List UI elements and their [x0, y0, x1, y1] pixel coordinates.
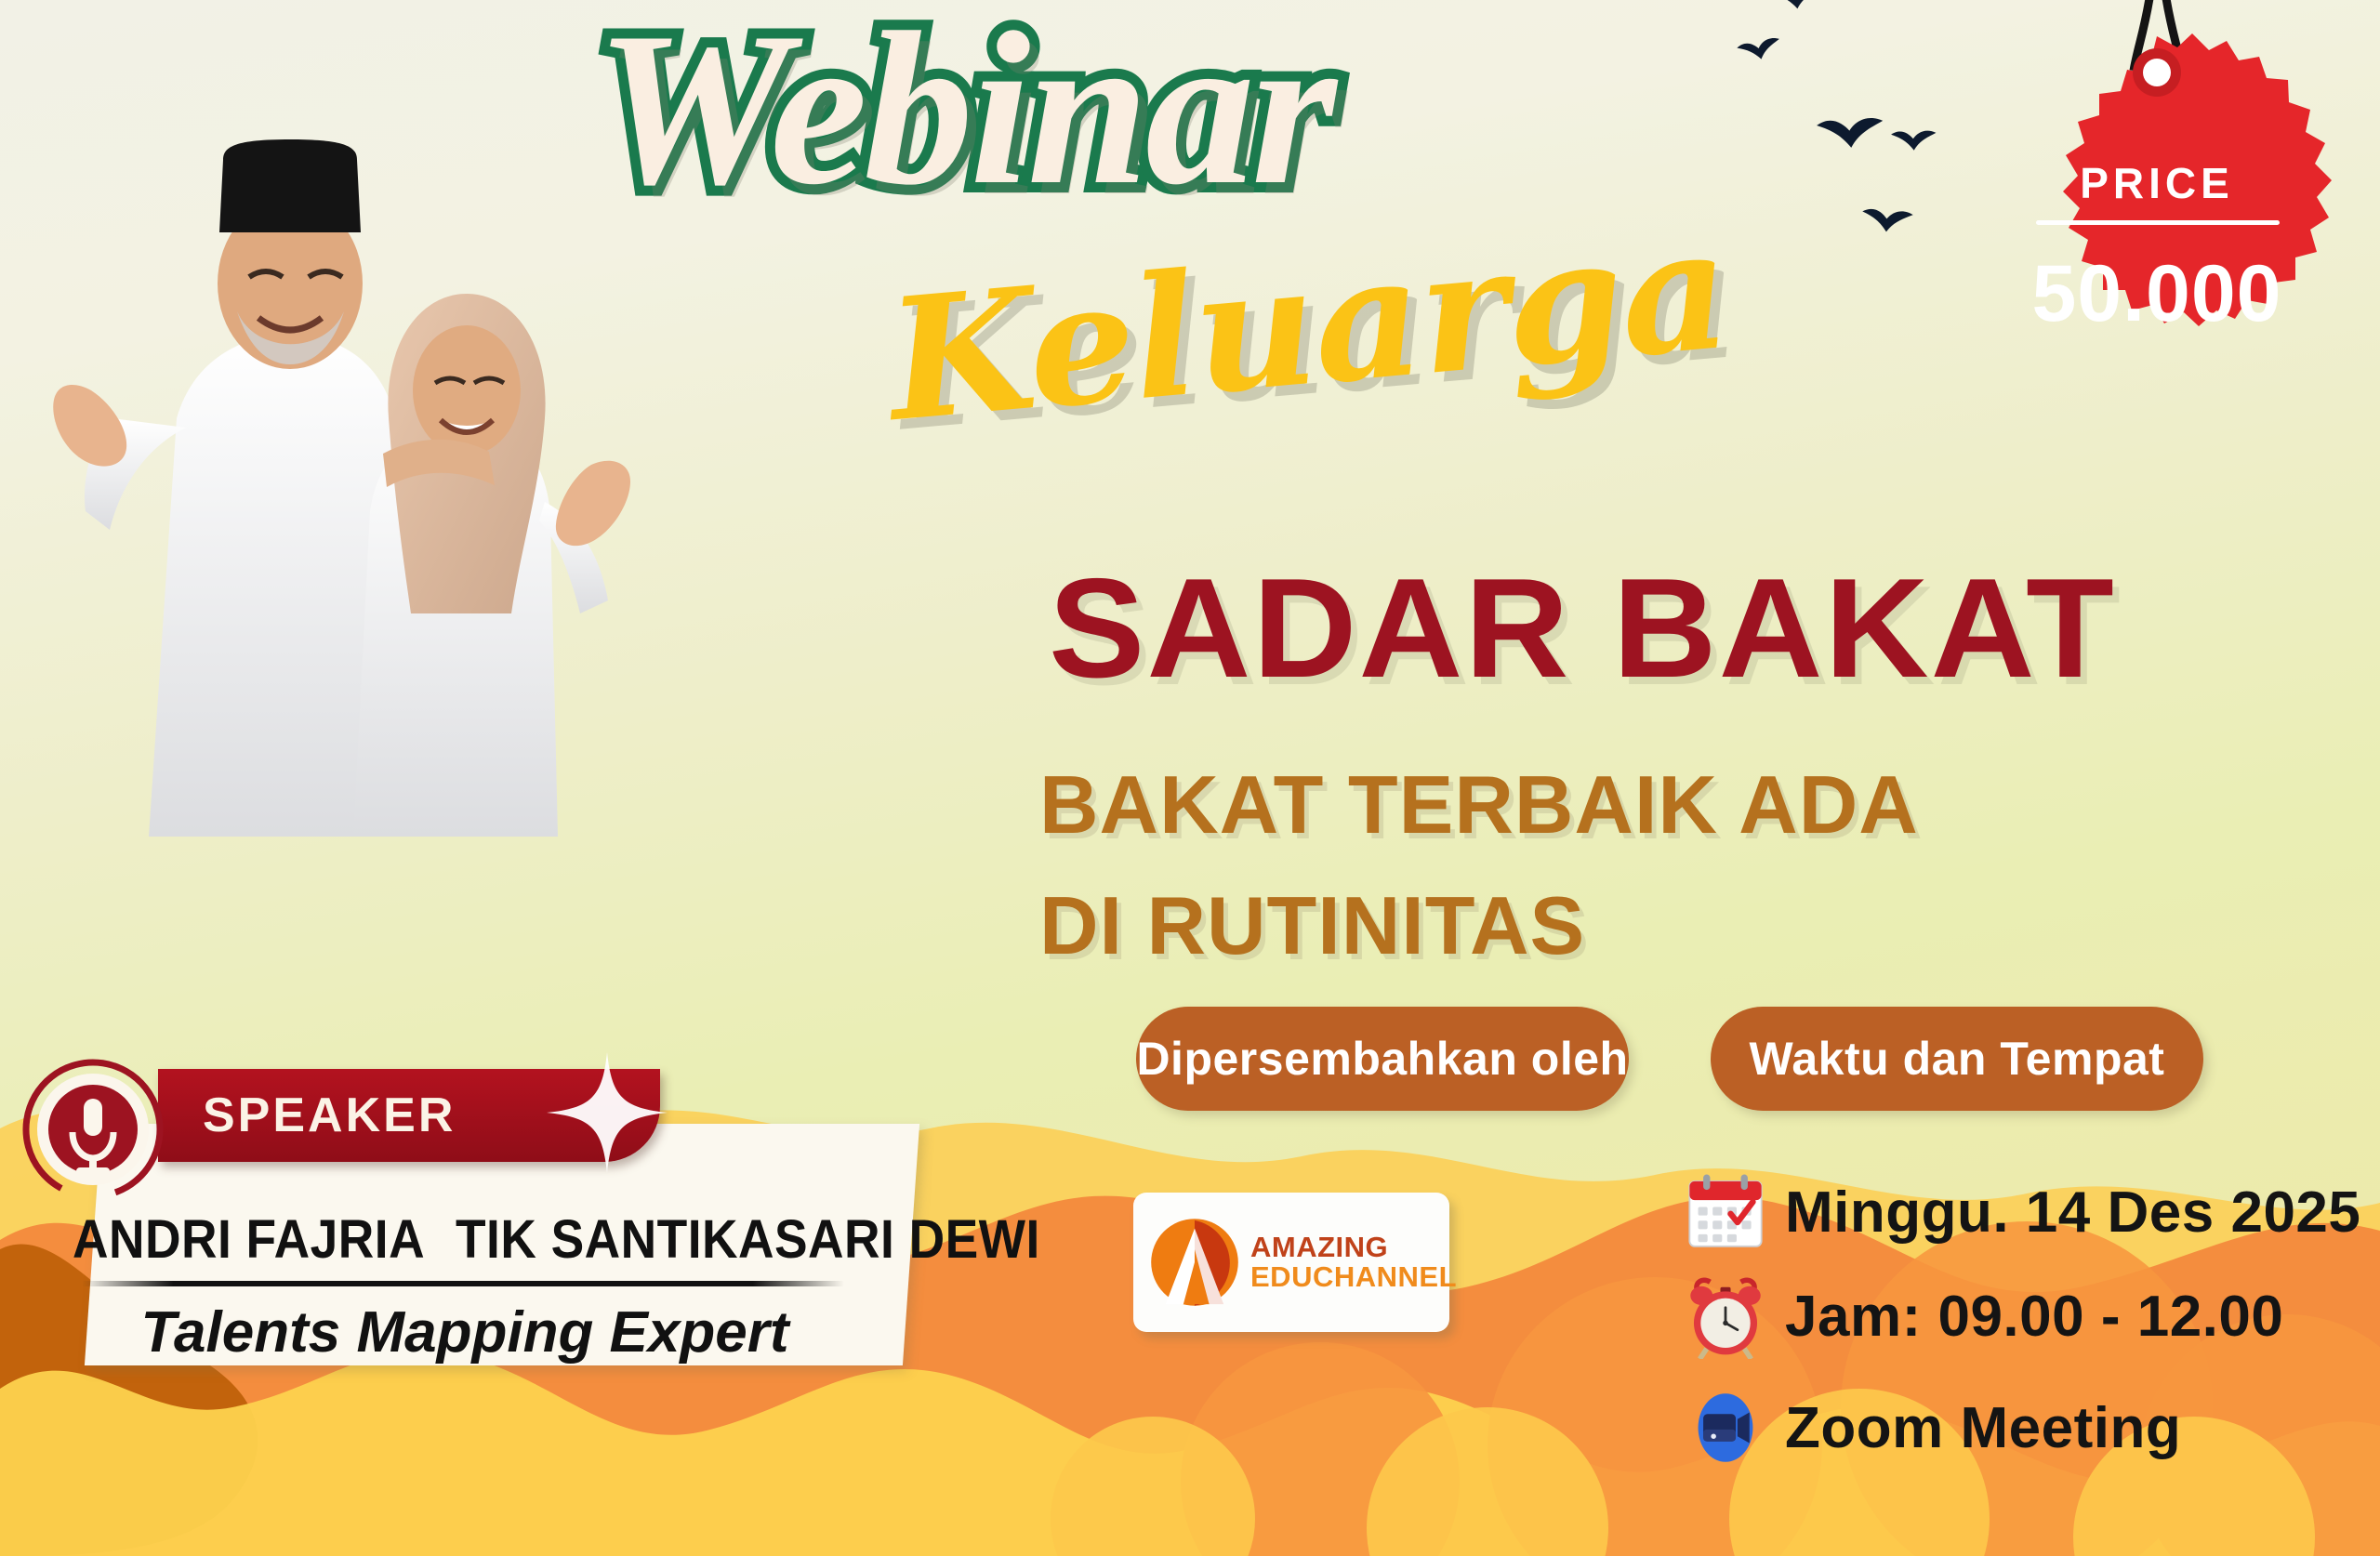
logo-line-1: AMAZING	[1250, 1233, 1457, 1262]
logo-line-2: EDUCHANNEL	[1250, 1262, 1457, 1292]
detail-platform-text: Zoom Meeting	[1785, 1395, 2181, 1461]
detail-time-text: Jam: 09.00 - 12.00	[1785, 1284, 2283, 1350]
price-label: PRICE	[1938, 158, 2375, 208]
organizer-logo-card: AMAZING EDUCHANNEL	[1133, 1193, 1449, 1332]
speaker-divider	[82, 1281, 844, 1286]
headline-webinar: Webinar	[595, 0, 1692, 242]
speaker-name-1: ANDRI FAJRIA	[73, 1208, 425, 1271]
speaker-role: Talents Mapping Expert	[0, 1299, 930, 1365]
pill-time-and-place: Waktu dan Tempat	[1711, 1007, 2203, 1111]
price-value: 50.000	[1938, 248, 2375, 340]
headline-keluarga: Keluarga	[888, 242, 1818, 446]
speaker-name-2: TIK SANTIKASARI DEWI	[456, 1208, 1040, 1271]
detail-row-date: Minggu. 14 Des 2025	[1683, 1169, 2360, 1255]
detail-date-text: Minggu. 14 Des 2025	[1785, 1180, 2360, 1246]
detail-row-platform: Zoom Meeting	[1683, 1385, 2181, 1470]
price-tag: PRICE 50.000	[1938, 0, 2375, 513]
webinar-poster: PRICE 50.000	[0, 0, 2380, 1556]
speaker-names: ANDRI FAJRIA TIK SANTIKASARI DEWI	[73, 1208, 872, 1271]
microphone-badge-icon	[19, 1050, 167, 1208]
alarm-clock-icon	[1683, 1273, 1768, 1359]
zoom-video-icon	[1683, 1385, 1768, 1470]
speaker-banner: SPEAKER	[158, 1069, 660, 1162]
subtitle-line-2: DI RUTINITAS	[1039, 885, 1585, 967]
detail-row-time: Jam: 09.00 - 12.00	[1683, 1273, 2283, 1359]
pill-presented-by: Dipersembahkan oleh	[1136, 1007, 1629, 1111]
headline-main: SADAR BAKAT	[1049, 558, 2116, 699]
speaker-banner-label: SPEAKER	[203, 1088, 456, 1143]
calendar-icon	[1683, 1169, 1768, 1255]
headline-webinar-text: Webinar	[595, 0, 1333, 231]
headline-keluarga-text: Keluarga	[882, 205, 1734, 445]
logo-wordmark: AMAZING EDUCHANNEL	[1250, 1233, 1457, 1291]
price-divider	[2036, 220, 2280, 225]
subtitle-line-1: BAKAT TERBAIK ADA	[1039, 764, 1919, 846]
speaker-couple-photo	[37, 112, 632, 837]
amazing-educhannel-logo-icon	[1146, 1214, 1243, 1311]
